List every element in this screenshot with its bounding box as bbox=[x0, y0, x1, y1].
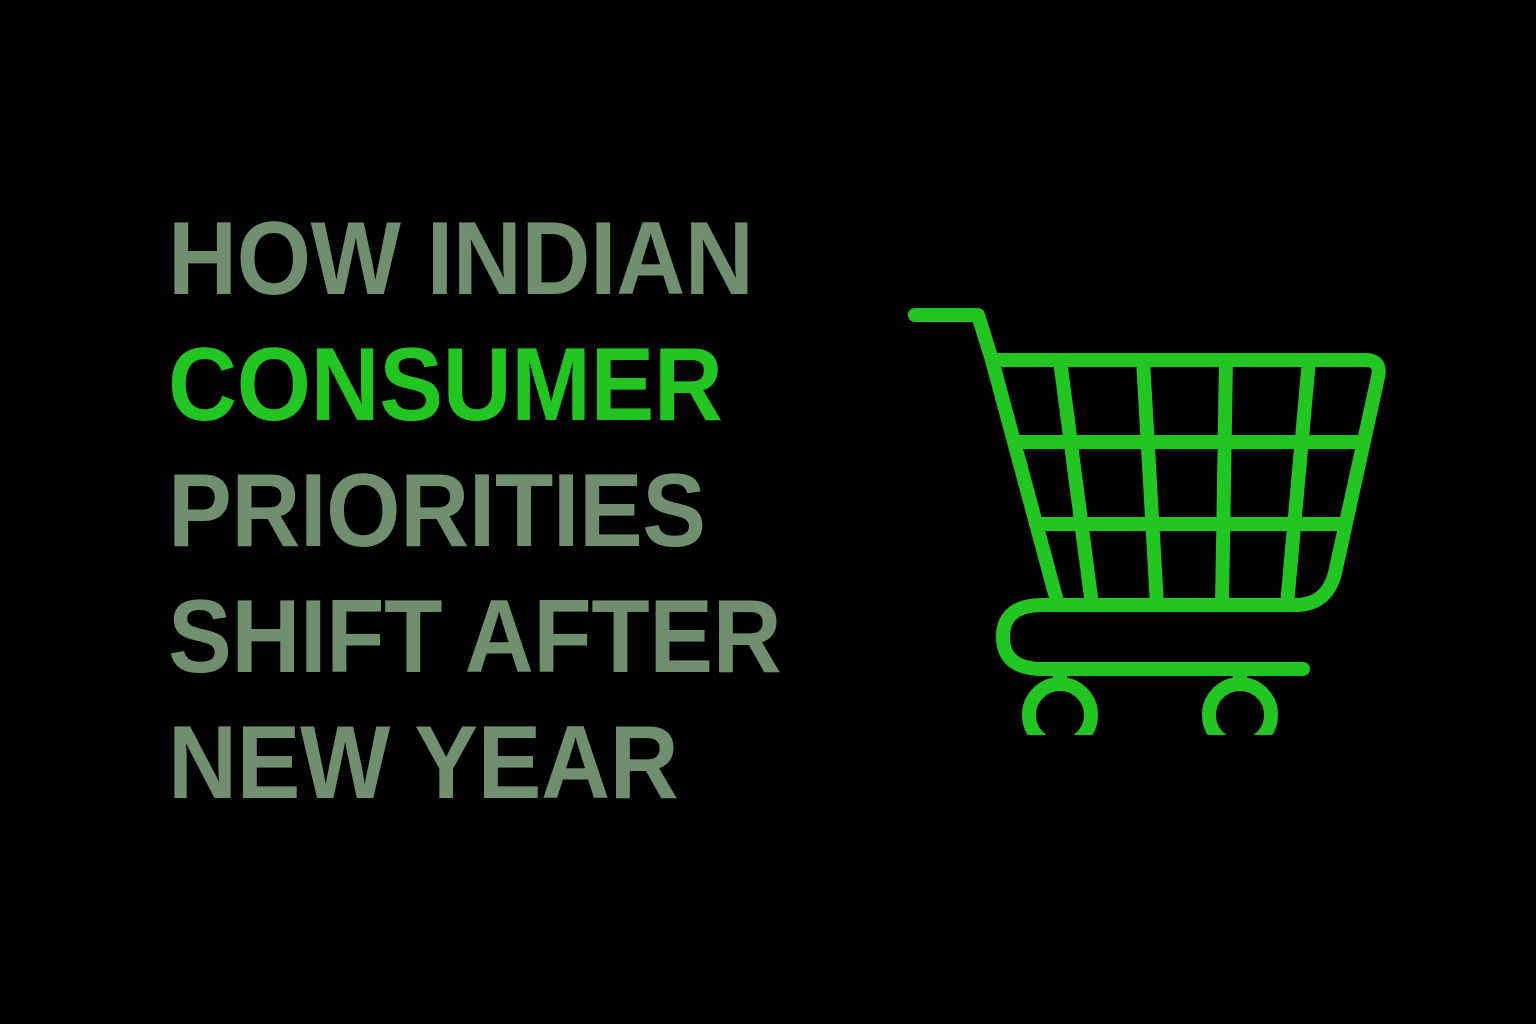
headline-line-3: PRIORITIES bbox=[168, 448, 812, 574]
shopping-cart-icon bbox=[895, 285, 1395, 735]
headline-line-1: HOW INDIAN bbox=[168, 196, 812, 322]
headline-block: HOW INDIAN CONSUMER PRIORITIES SHIFT AFT… bbox=[168, 196, 868, 826]
poster-canvas: HOW INDIAN CONSUMER PRIORITIES SHIFT AFT… bbox=[0, 0, 1536, 1024]
headline-line-4: SHIFT AFTER bbox=[168, 574, 812, 700]
headline-line-5: NEW YEAR bbox=[168, 700, 812, 826]
headline-line-2-accent: CONSUMER bbox=[168, 322, 812, 448]
